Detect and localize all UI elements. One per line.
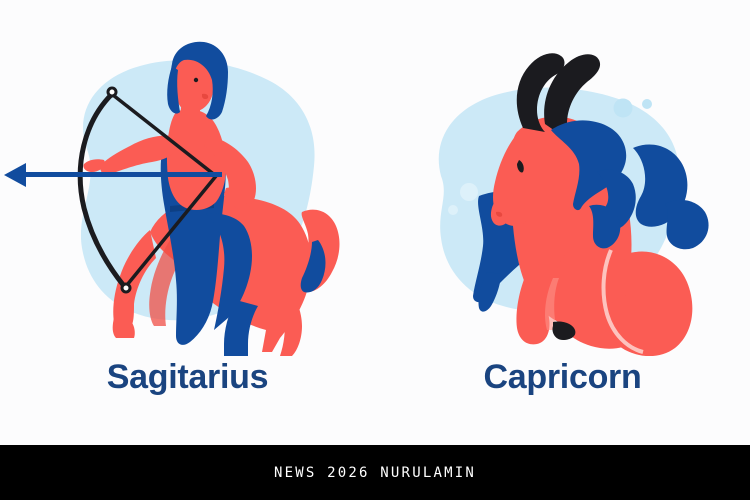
capricorn-illustration	[375, 0, 750, 360]
sagittarius-illustration	[0, 0, 375, 360]
bottom-banner: NEWS 2026 NURULAMIN	[0, 445, 750, 500]
zodiac-panel-capricorn[interactable]: Capricorn	[375, 0, 750, 445]
zodiac-panel-sagittarius[interactable]: Sagitarius	[0, 0, 375, 445]
zodiac-poster: Sagitarius	[0, 0, 750, 500]
zodiac-panels: Sagitarius	[0, 0, 750, 445]
banner-text: NEWS 2026 NURULAMIN	[274, 465, 476, 481]
zodiac-label-sagittarius: Sagitarius	[0, 358, 375, 397]
zodiac-label-capricorn: Capricorn	[375, 358, 750, 397]
